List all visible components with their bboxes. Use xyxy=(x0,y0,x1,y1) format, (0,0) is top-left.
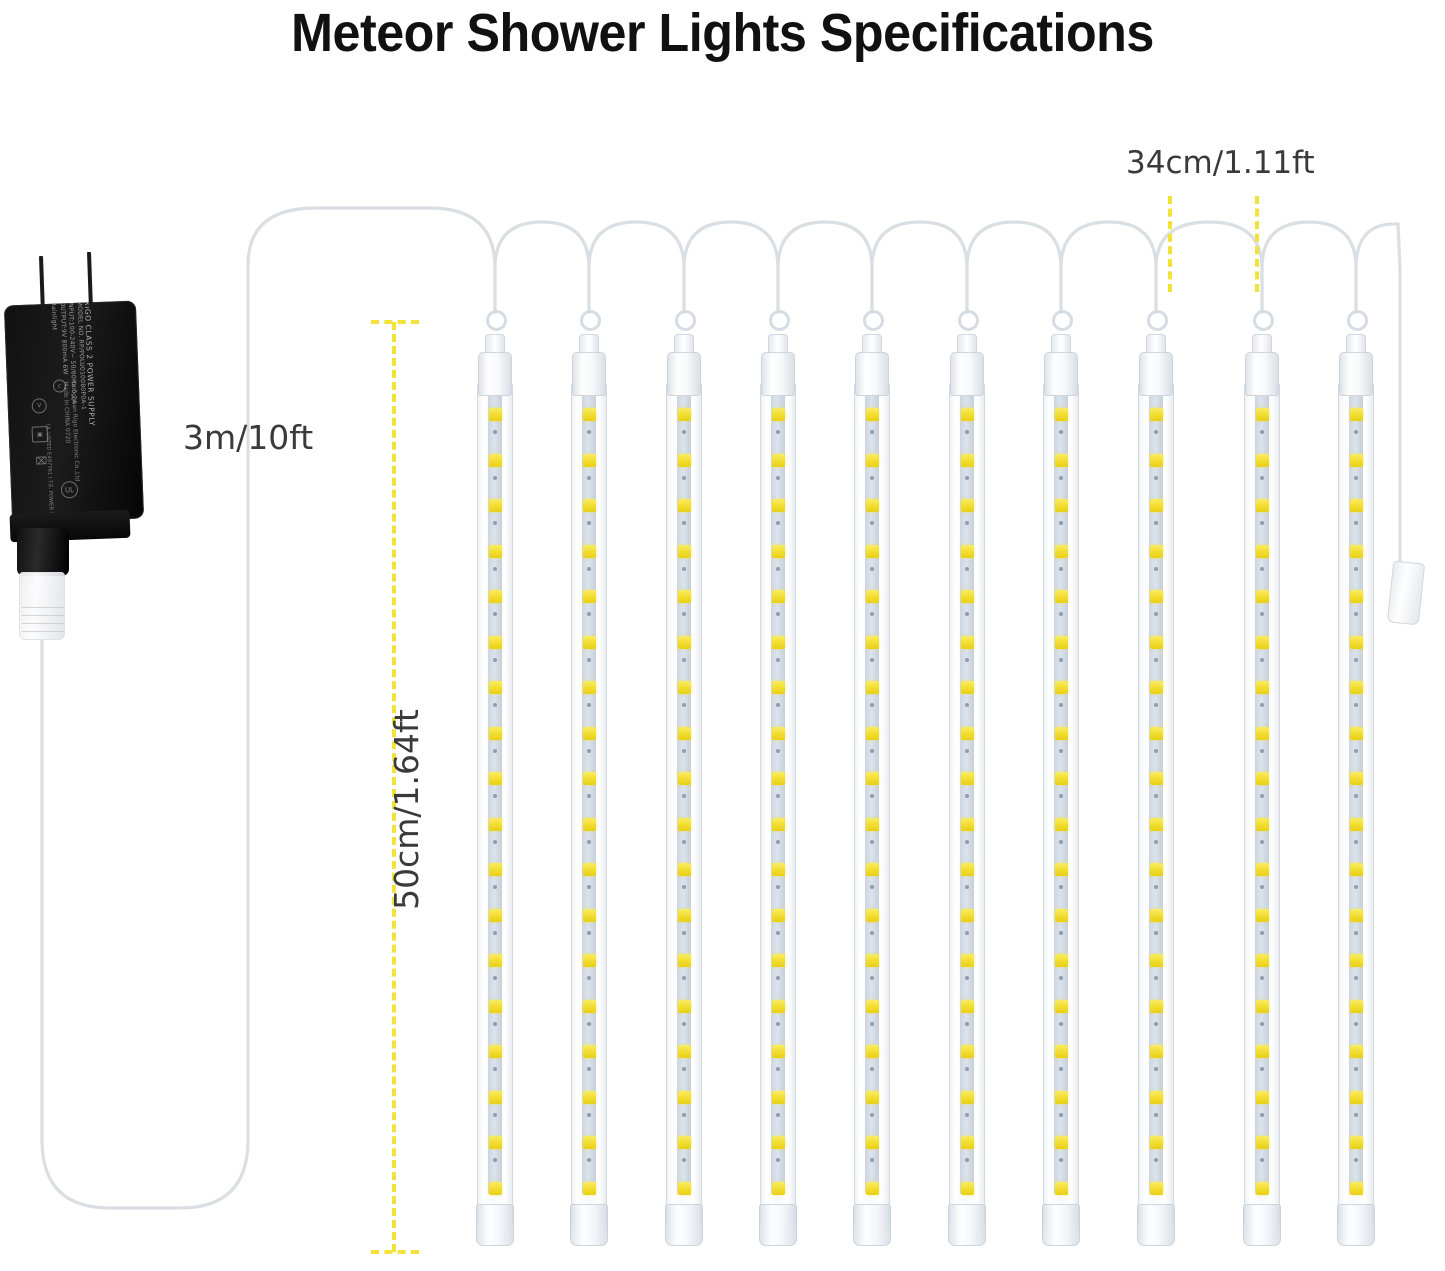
led-chip xyxy=(961,454,974,467)
led-strip-dot xyxy=(965,1067,969,1071)
led-chip xyxy=(1055,408,1068,421)
led-strip-dot xyxy=(776,658,780,662)
led-strip-dot xyxy=(1059,840,1063,844)
led-strip-dot xyxy=(870,885,874,889)
led-chip xyxy=(1150,1182,1163,1195)
led-strip-dot xyxy=(682,1158,686,1162)
led-chip xyxy=(678,681,691,694)
led-chip xyxy=(1150,954,1163,967)
led-strip-dot xyxy=(1154,612,1158,616)
led-chip xyxy=(1256,727,1269,740)
led-chip xyxy=(1350,1091,1363,1104)
led-strip-dot xyxy=(1260,430,1264,434)
led-strip-dot xyxy=(1059,1067,1063,1071)
led-strip-dot xyxy=(870,430,874,434)
led-chip xyxy=(1150,818,1163,831)
led-chip xyxy=(866,1000,879,1013)
led-strip-dot xyxy=(1260,794,1264,798)
tube-top-cap xyxy=(1044,352,1078,396)
led-chip xyxy=(583,1182,596,1195)
led-strip-dot xyxy=(776,612,780,616)
led-strip-dot xyxy=(587,1158,591,1162)
led-chip xyxy=(489,1045,502,1058)
led-chip xyxy=(1055,772,1068,785)
led-chip xyxy=(1350,545,1363,558)
led-strip-dot xyxy=(493,976,497,980)
led-strip-dot xyxy=(1354,1113,1358,1117)
led-chip xyxy=(1150,909,1163,922)
led-chip xyxy=(866,408,879,421)
led-strip-dot xyxy=(493,430,497,434)
led-strip-dot xyxy=(493,612,497,616)
led-chip xyxy=(583,636,596,649)
led-chip xyxy=(961,1045,974,1058)
led-chip xyxy=(489,818,502,831)
led-chip xyxy=(1055,590,1068,603)
led-strip-dot xyxy=(870,703,874,707)
led-chip xyxy=(489,545,502,558)
led-strip-dot xyxy=(1154,885,1158,889)
led-chip xyxy=(1055,1136,1068,1149)
led-chip xyxy=(866,772,879,785)
led-chip xyxy=(772,1136,785,1149)
led-strip-dot xyxy=(776,567,780,571)
tube-bottom-cap xyxy=(853,1204,891,1246)
led-chip xyxy=(866,909,879,922)
led-strip-dot xyxy=(1354,1022,1358,1026)
led-strip-dot xyxy=(1059,658,1063,662)
led-chip xyxy=(1350,454,1363,467)
tube-length-tick-bottom xyxy=(371,1250,419,1254)
led-chip xyxy=(583,1045,596,1058)
led-chip xyxy=(678,909,691,922)
led-strip-dot xyxy=(1154,976,1158,980)
led-chip xyxy=(772,909,785,922)
led-chip xyxy=(583,1136,596,1149)
led-chip xyxy=(1350,818,1363,831)
led-chip xyxy=(866,545,879,558)
led-strip-dot xyxy=(776,885,780,889)
led-chip xyxy=(1350,727,1363,740)
led-chip xyxy=(772,772,785,785)
led-tube xyxy=(477,352,513,1252)
led-strip-dot xyxy=(493,476,497,480)
led-strip-dot xyxy=(682,1067,686,1071)
led-chip xyxy=(772,818,785,831)
adapter-waterproof-connector xyxy=(19,572,65,640)
led-strip-dot xyxy=(1059,794,1063,798)
led-strip-dot xyxy=(1354,976,1358,980)
led-strip-dot xyxy=(1354,658,1358,662)
led-chip xyxy=(1256,1136,1269,1149)
led-strip-dot xyxy=(870,612,874,616)
led-chip xyxy=(961,681,974,694)
led-chip xyxy=(489,1136,502,1149)
led-chip xyxy=(1055,499,1068,512)
led-chip xyxy=(866,1136,879,1149)
led-chip xyxy=(772,727,785,740)
led-strip-dot xyxy=(965,658,969,662)
led-chip xyxy=(1055,1182,1068,1195)
hanging-ring-icon xyxy=(1147,310,1168,331)
tube-bottom-cap xyxy=(1042,1204,1080,1246)
led-chip xyxy=(866,590,879,603)
led-chip xyxy=(489,1000,502,1013)
led-chip xyxy=(1055,681,1068,694)
tube-top-cap xyxy=(572,352,606,396)
led-strip-dot xyxy=(1154,840,1158,844)
led-chip xyxy=(772,408,785,421)
led-chip xyxy=(961,772,974,785)
led-chip xyxy=(866,1091,879,1104)
led-strip-dot xyxy=(587,840,591,844)
led-strip-dot xyxy=(493,749,497,753)
led-strip-dot xyxy=(776,749,780,753)
led-strip-dot xyxy=(1154,567,1158,571)
led-strip-dot xyxy=(1059,1022,1063,1026)
led-chip xyxy=(1150,499,1163,512)
hanging-ring-icon xyxy=(675,310,696,331)
led-chip xyxy=(1055,1091,1068,1104)
led-chip xyxy=(583,545,596,558)
led-chip xyxy=(1350,1000,1363,1013)
led-strip-dot xyxy=(682,612,686,616)
tube-length-dimension-label: 50cm/1.64ft xyxy=(387,709,426,910)
led-chip xyxy=(1350,909,1363,922)
led-chip xyxy=(772,545,785,558)
led-chip xyxy=(961,1182,974,1195)
led-chip xyxy=(1256,909,1269,922)
led-chip xyxy=(866,1045,879,1058)
led-strip-dot xyxy=(1154,658,1158,662)
led-strip-dot xyxy=(965,1113,969,1117)
led-chip xyxy=(1256,818,1269,831)
led-strip-dot xyxy=(776,931,780,935)
led-chip xyxy=(1150,590,1163,603)
led-strip-dot xyxy=(493,885,497,889)
led-chip xyxy=(583,408,596,421)
led-tube xyxy=(666,352,702,1252)
led-chip xyxy=(1150,681,1163,694)
led-strip-dot xyxy=(870,931,874,935)
led-chip xyxy=(866,1182,879,1195)
led-strip-dot xyxy=(682,430,686,434)
led-strip-dot xyxy=(1059,885,1063,889)
led-strip-dot xyxy=(870,1067,874,1071)
led-strip-dot xyxy=(493,703,497,707)
led-strip-dot xyxy=(587,430,591,434)
led-chip xyxy=(772,454,785,467)
led-strip-dot xyxy=(1260,1067,1264,1071)
led-strip-dot xyxy=(1154,931,1158,935)
led-strip-dot xyxy=(1260,931,1264,935)
led-strip-dot xyxy=(1154,430,1158,434)
led-strip-dot xyxy=(870,658,874,662)
tube-top-cap xyxy=(950,352,984,396)
led-strip-dot xyxy=(493,1113,497,1117)
led-strip-dot xyxy=(493,840,497,844)
led-strip-dot xyxy=(1059,521,1063,525)
hanging-ring-icon xyxy=(1052,310,1073,331)
led-chip xyxy=(772,636,785,649)
led-chip xyxy=(1350,1045,1363,1058)
led-chip xyxy=(1256,408,1269,421)
led-strip-dot xyxy=(682,1113,686,1117)
led-strip-dot xyxy=(1354,521,1358,525)
led-strip-dot xyxy=(682,476,686,480)
led-strip-dot xyxy=(682,976,686,980)
led-strip-dot xyxy=(1260,976,1264,980)
led-chip xyxy=(678,727,691,740)
led-chip xyxy=(866,681,879,694)
led-chip xyxy=(583,1091,596,1104)
led-chip xyxy=(1055,818,1068,831)
led-strip-dot xyxy=(587,885,591,889)
tube-bottom-cap xyxy=(476,1204,514,1246)
led-chip xyxy=(583,454,596,467)
led-tube xyxy=(571,352,607,1252)
led-chip xyxy=(1256,1000,1269,1013)
led-chip xyxy=(583,727,596,740)
hanging-ring-icon xyxy=(769,310,790,331)
led-strip-dot xyxy=(870,976,874,980)
cable-artwork xyxy=(0,0,1445,1271)
led-chip xyxy=(678,818,691,831)
led-strip-dot xyxy=(1059,1113,1063,1117)
led-strip-dot xyxy=(776,840,780,844)
led-chip xyxy=(1150,1000,1163,1013)
led-chip xyxy=(583,863,596,876)
led-chip xyxy=(489,1182,502,1195)
led-chip xyxy=(961,863,974,876)
led-strip-dot xyxy=(587,1022,591,1026)
tube-top-cap xyxy=(478,352,512,396)
led-strip-dot xyxy=(1354,794,1358,798)
led-chip xyxy=(1256,499,1269,512)
led-strip-dot xyxy=(1354,476,1358,480)
tube-top-cap xyxy=(855,352,889,396)
led-chip xyxy=(678,772,691,785)
led-strip-dot xyxy=(587,703,591,707)
led-chip xyxy=(772,1045,785,1058)
led-chip xyxy=(866,454,879,467)
led-strip-dot xyxy=(1059,1158,1063,1162)
led-chip xyxy=(961,818,974,831)
led-strip-dot xyxy=(587,931,591,935)
led-chip xyxy=(1350,772,1363,785)
led-chip xyxy=(1055,636,1068,649)
led-strip-dot xyxy=(1354,840,1358,844)
led-strip-dot xyxy=(1059,430,1063,434)
led-chip xyxy=(1150,727,1163,740)
led-chip xyxy=(678,1182,691,1195)
hanging-ring-icon xyxy=(958,310,979,331)
led-strip-dot xyxy=(965,976,969,980)
adapter-barrel xyxy=(17,528,69,576)
led-chip xyxy=(678,454,691,467)
led-strip-dot xyxy=(1354,567,1358,571)
led-tube xyxy=(1338,352,1374,1252)
led-chip xyxy=(1055,454,1068,467)
led-chip xyxy=(1055,954,1068,967)
led-strip-dot xyxy=(870,476,874,480)
led-chip xyxy=(1256,954,1269,967)
led-chip xyxy=(489,909,502,922)
led-strip-dot xyxy=(1154,794,1158,798)
led-strip-dot xyxy=(1260,521,1264,525)
led-chip xyxy=(489,727,502,740)
led-strip-dot xyxy=(493,794,497,798)
led-chip xyxy=(583,1000,596,1013)
led-chip xyxy=(961,954,974,967)
tube-bottom-cap xyxy=(948,1204,986,1246)
led-strip-dot xyxy=(870,1158,874,1162)
led-chip xyxy=(961,636,974,649)
led-chip xyxy=(1055,1045,1068,1058)
led-strip-dot xyxy=(965,612,969,616)
led-strip-dot xyxy=(682,658,686,662)
led-chip xyxy=(1150,454,1163,467)
led-chip xyxy=(489,772,502,785)
led-strip-dot xyxy=(587,612,591,616)
led-strip-dot xyxy=(587,976,591,980)
led-strip-dot xyxy=(1260,885,1264,889)
led-strip-dot xyxy=(682,749,686,753)
hanging-ring-icon xyxy=(863,310,884,331)
led-chip xyxy=(1256,681,1269,694)
led-chip xyxy=(1256,636,1269,649)
led-chip xyxy=(772,499,785,512)
tube-bottom-cap xyxy=(570,1204,608,1246)
led-strip-dot xyxy=(776,1113,780,1117)
led-strip-dot xyxy=(1260,476,1264,480)
led-strip-dot xyxy=(776,976,780,980)
led-strip-dot xyxy=(1059,612,1063,616)
led-strip-dot xyxy=(1354,612,1358,616)
led-strip-dot xyxy=(1354,1067,1358,1071)
led-strip-dot xyxy=(965,885,969,889)
led-strip-dot xyxy=(682,703,686,707)
led-chip xyxy=(866,954,879,967)
led-chip xyxy=(489,863,502,876)
hanging-ring-icon xyxy=(1253,310,1274,331)
tube-bottom-cap xyxy=(759,1204,797,1246)
led-strip-dot xyxy=(965,476,969,480)
led-chip xyxy=(961,499,974,512)
led-strip-dot xyxy=(965,521,969,525)
led-strip-dot xyxy=(1154,1067,1158,1071)
led-chip xyxy=(1256,1045,1269,1058)
led-strip-dot xyxy=(776,1022,780,1026)
led-chip xyxy=(961,909,974,922)
led-strip-dot xyxy=(1260,567,1264,571)
led-strip-dot xyxy=(1260,840,1264,844)
led-strip-dot xyxy=(587,476,591,480)
led-strip-dot xyxy=(870,749,874,753)
led-strip-dot xyxy=(1059,567,1063,571)
led-chip xyxy=(1350,863,1363,876)
led-chip xyxy=(1150,772,1163,785)
led-chip xyxy=(1055,545,1068,558)
led-strip-dot xyxy=(1154,1158,1158,1162)
led-strip-dot xyxy=(493,1158,497,1162)
led-chip xyxy=(1256,545,1269,558)
led-chip xyxy=(772,954,785,967)
led-strip-dot xyxy=(1059,749,1063,753)
led-strip-dot xyxy=(587,521,591,525)
led-chip xyxy=(1150,408,1163,421)
led-chip xyxy=(1150,1136,1163,1149)
led-chip xyxy=(961,545,974,558)
tube-bottom-cap xyxy=(665,1204,703,1246)
led-strip-dot xyxy=(1354,931,1358,935)
led-chip xyxy=(583,499,596,512)
led-tube xyxy=(760,352,796,1252)
led-strip-dot xyxy=(1059,976,1063,980)
led-strip-dot xyxy=(587,794,591,798)
led-strip-dot xyxy=(1154,1113,1158,1117)
led-tube xyxy=(854,352,890,1252)
led-chip xyxy=(961,1091,974,1104)
led-chip xyxy=(678,1000,691,1013)
led-chip xyxy=(1256,590,1269,603)
cable-length-dimension-label: 3m/10ft xyxy=(183,418,313,457)
led-strip-dot xyxy=(965,840,969,844)
led-strip-dot xyxy=(776,521,780,525)
led-tube xyxy=(1244,352,1280,1252)
led-chip xyxy=(678,1091,691,1104)
tube-top-cap xyxy=(1339,352,1373,396)
led-chip xyxy=(583,681,596,694)
led-chip xyxy=(1350,499,1363,512)
led-chip xyxy=(866,818,879,831)
led-strip-dot xyxy=(587,1067,591,1071)
led-chip xyxy=(489,590,502,603)
led-chip xyxy=(678,863,691,876)
led-strip-dot xyxy=(776,1158,780,1162)
led-chip xyxy=(961,1136,974,1149)
led-strip-dot xyxy=(870,1022,874,1026)
tube-bottom-cap xyxy=(1243,1204,1281,1246)
string-end-connector xyxy=(1387,560,1425,625)
led-strip-dot xyxy=(776,430,780,434)
led-strip-dot xyxy=(965,1158,969,1162)
led-chip xyxy=(772,681,785,694)
led-strip-dot xyxy=(1260,658,1264,662)
led-chip xyxy=(961,1000,974,1013)
led-strip-dot xyxy=(870,794,874,798)
led-chip xyxy=(678,636,691,649)
led-strip-dot xyxy=(493,521,497,525)
led-strip-dot xyxy=(1154,476,1158,480)
led-strip-dot xyxy=(1059,476,1063,480)
led-strip-dot xyxy=(965,430,969,434)
spacing-tick-right xyxy=(1255,196,1259,292)
led-chip xyxy=(678,499,691,512)
led-strip-dot xyxy=(776,703,780,707)
led-strip-dot xyxy=(1059,931,1063,935)
led-chip xyxy=(489,681,502,694)
led-strip-dot xyxy=(682,567,686,571)
led-chip xyxy=(583,909,596,922)
led-tube xyxy=(1138,352,1174,1252)
led-chip xyxy=(583,818,596,831)
led-chip xyxy=(1150,863,1163,876)
led-strip-dot xyxy=(776,476,780,480)
tube-bottom-cap xyxy=(1337,1204,1375,1246)
led-chip xyxy=(583,772,596,785)
hanging-ring-icon xyxy=(486,310,507,331)
